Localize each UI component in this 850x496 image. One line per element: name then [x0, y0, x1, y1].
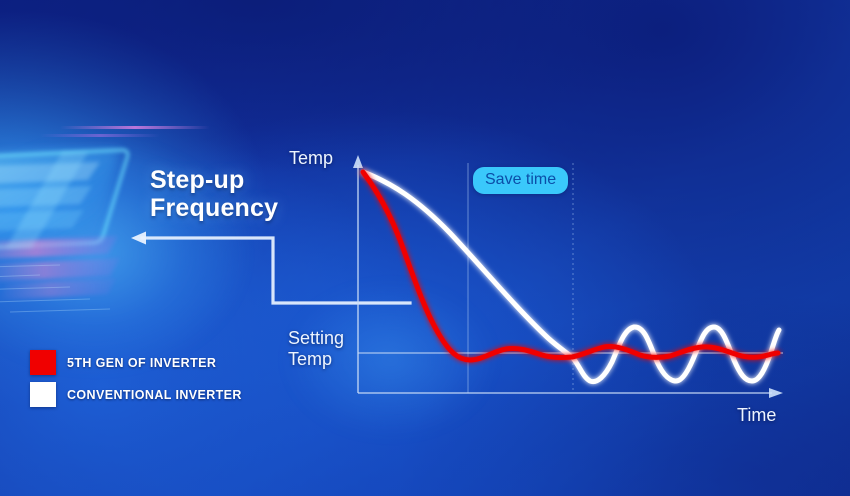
save-time-badge: Save time [473, 167, 568, 194]
infographic-stage: Step-up Frequency [0, 0, 850, 496]
y-axis-label: Temp [289, 148, 333, 169]
x-axis-label: Time [737, 405, 776, 426]
series-line-5th-gen-inverter [363, 172, 778, 360]
y-axis-arrow-icon [353, 155, 363, 168]
legend-swatch-5th-gen [30, 350, 56, 375]
setting-temp-label-line-1: Setting [288, 328, 344, 349]
legend-item-conventional: CONVENTIONAL INVERTER [30, 382, 242, 407]
legend-label-conventional: CONVENTIONAL INVERTER [67, 388, 242, 402]
legend-item-5th-gen: 5TH GEN OF INVERTER [30, 350, 242, 375]
x-axis-arrow-icon [769, 388, 783, 398]
setting-temp-label-line-2: Temp [288, 349, 344, 370]
setting-temp-label: Setting Temp [288, 328, 344, 370]
temperature-chart: Temp Setting Temp Time Save time [0, 0, 850, 496]
chart-svg [0, 0, 850, 496]
chart-legend: 5TH GEN OF INVERTER CONVENTIONAL INVERTE… [30, 350, 242, 414]
legend-swatch-conventional [30, 382, 56, 407]
legend-label-5th-gen: 5TH GEN OF INVERTER [67, 356, 216, 370]
